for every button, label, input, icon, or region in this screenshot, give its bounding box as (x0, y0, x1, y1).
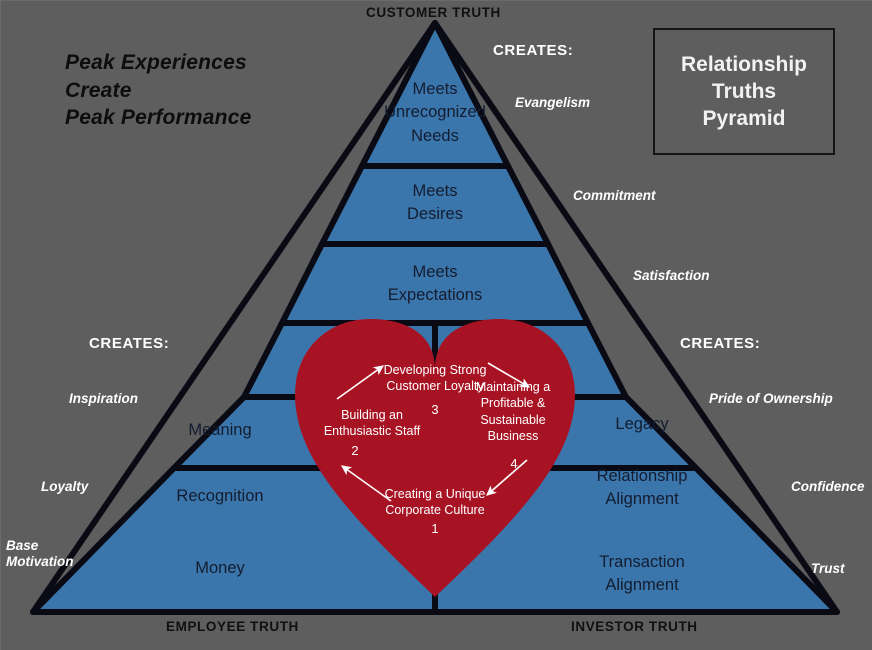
outcome-base-motivation: Base Motivation (6, 538, 74, 570)
label-customer-truth: CUSTOMER TRUTH (366, 5, 501, 21)
heart-item-creating-unique-culture: Creating a Unique Corporate Culture (375, 486, 495, 519)
heart-item-maintaining-profitable-business: Maintaining a Profitable & Sustainable B… (458, 379, 568, 444)
creates-header-employee: CREATES: (89, 335, 169, 353)
tier-label-meets-expectations: Meets Expectations (325, 261, 545, 308)
label-investor-truth: INVESTOR TRUTH (571, 619, 698, 635)
tier-label-money: Money (110, 557, 330, 580)
tier-label-recognition: Recognition (110, 485, 330, 508)
tier-label-relationship-alignment: Relationship Alignment (532, 465, 752, 512)
outcome-confidence: Confidence (791, 479, 865, 495)
creates-header-investor: CREATES: (680, 335, 760, 353)
title-box: Relationship Truths Pyramid (653, 28, 835, 155)
tier-label-transaction-alignment: Transaction Alignment (532, 551, 752, 598)
heart-number-3: 3 (425, 402, 445, 417)
outcome-pride-of-ownership: Pride of Ownership (709, 391, 833, 407)
heart-item-building-enthusiastic-staff: Building an Enthusiastic Staff (312, 407, 432, 440)
relationship-truths-pyramid-diagram: Peak Experiences Create Peak Performance… (0, 0, 872, 650)
tier-label-meets-unrecognized-needs: Meets Unrecognized Needs (325, 78, 545, 148)
outcome-satisfaction: Satisfaction (633, 268, 710, 284)
tier-label-meaning: Meaning (110, 419, 330, 442)
outcome-trust: Trust (811, 561, 845, 577)
heart-number-1: 1 (425, 521, 445, 536)
heart-number-4: 4 (504, 456, 524, 471)
creates-header-customer: CREATES: (493, 42, 573, 60)
label-employee-truth: EMPLOYEE TRUTH (166, 619, 299, 635)
outcome-inspiration: Inspiration (69, 391, 138, 407)
page-title: Peak Experiences Create Peak Performance (65, 49, 251, 132)
outcome-loyalty: Loyalty (41, 479, 88, 495)
tier-label-meets-desires: Meets Desires (325, 180, 545, 227)
title-box-label: Relationship Truths Pyramid (681, 51, 807, 133)
heart-number-2: 2 (345, 443, 365, 458)
outcome-commitment: Commitment (573, 188, 656, 204)
